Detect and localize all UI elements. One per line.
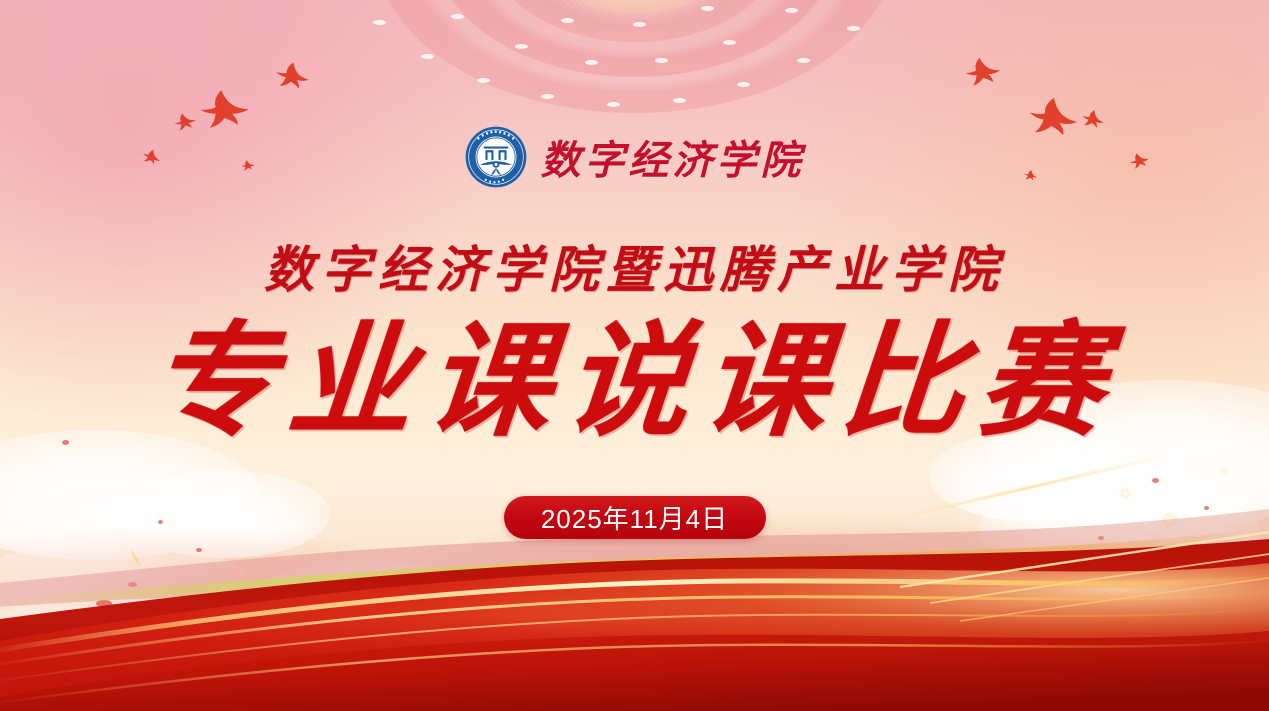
- poster-main-title: 专业课说课比赛: [146, 316, 1124, 450]
- brand-name: 数字经济学院: [541, 128, 805, 186]
- college-emblem-icon: [465, 126, 527, 188]
- poster-content: 数字经济学院 数字经济学院暨迅腾产业学院 专业课说课比赛 2025年11月4日: [0, 0, 1269, 711]
- poster-canvas: 数字经济学院 数字经济学院暨迅腾产业学院 专业课说课比赛 2025年11月4日: [0, 0, 1269, 711]
- date-badge: 2025年11月4日: [504, 496, 766, 539]
- poster-subtitle: 数字经济学院暨迅腾产业学院: [264, 230, 1005, 302]
- brand-lockup: 数字经济学院: [465, 126, 805, 188]
